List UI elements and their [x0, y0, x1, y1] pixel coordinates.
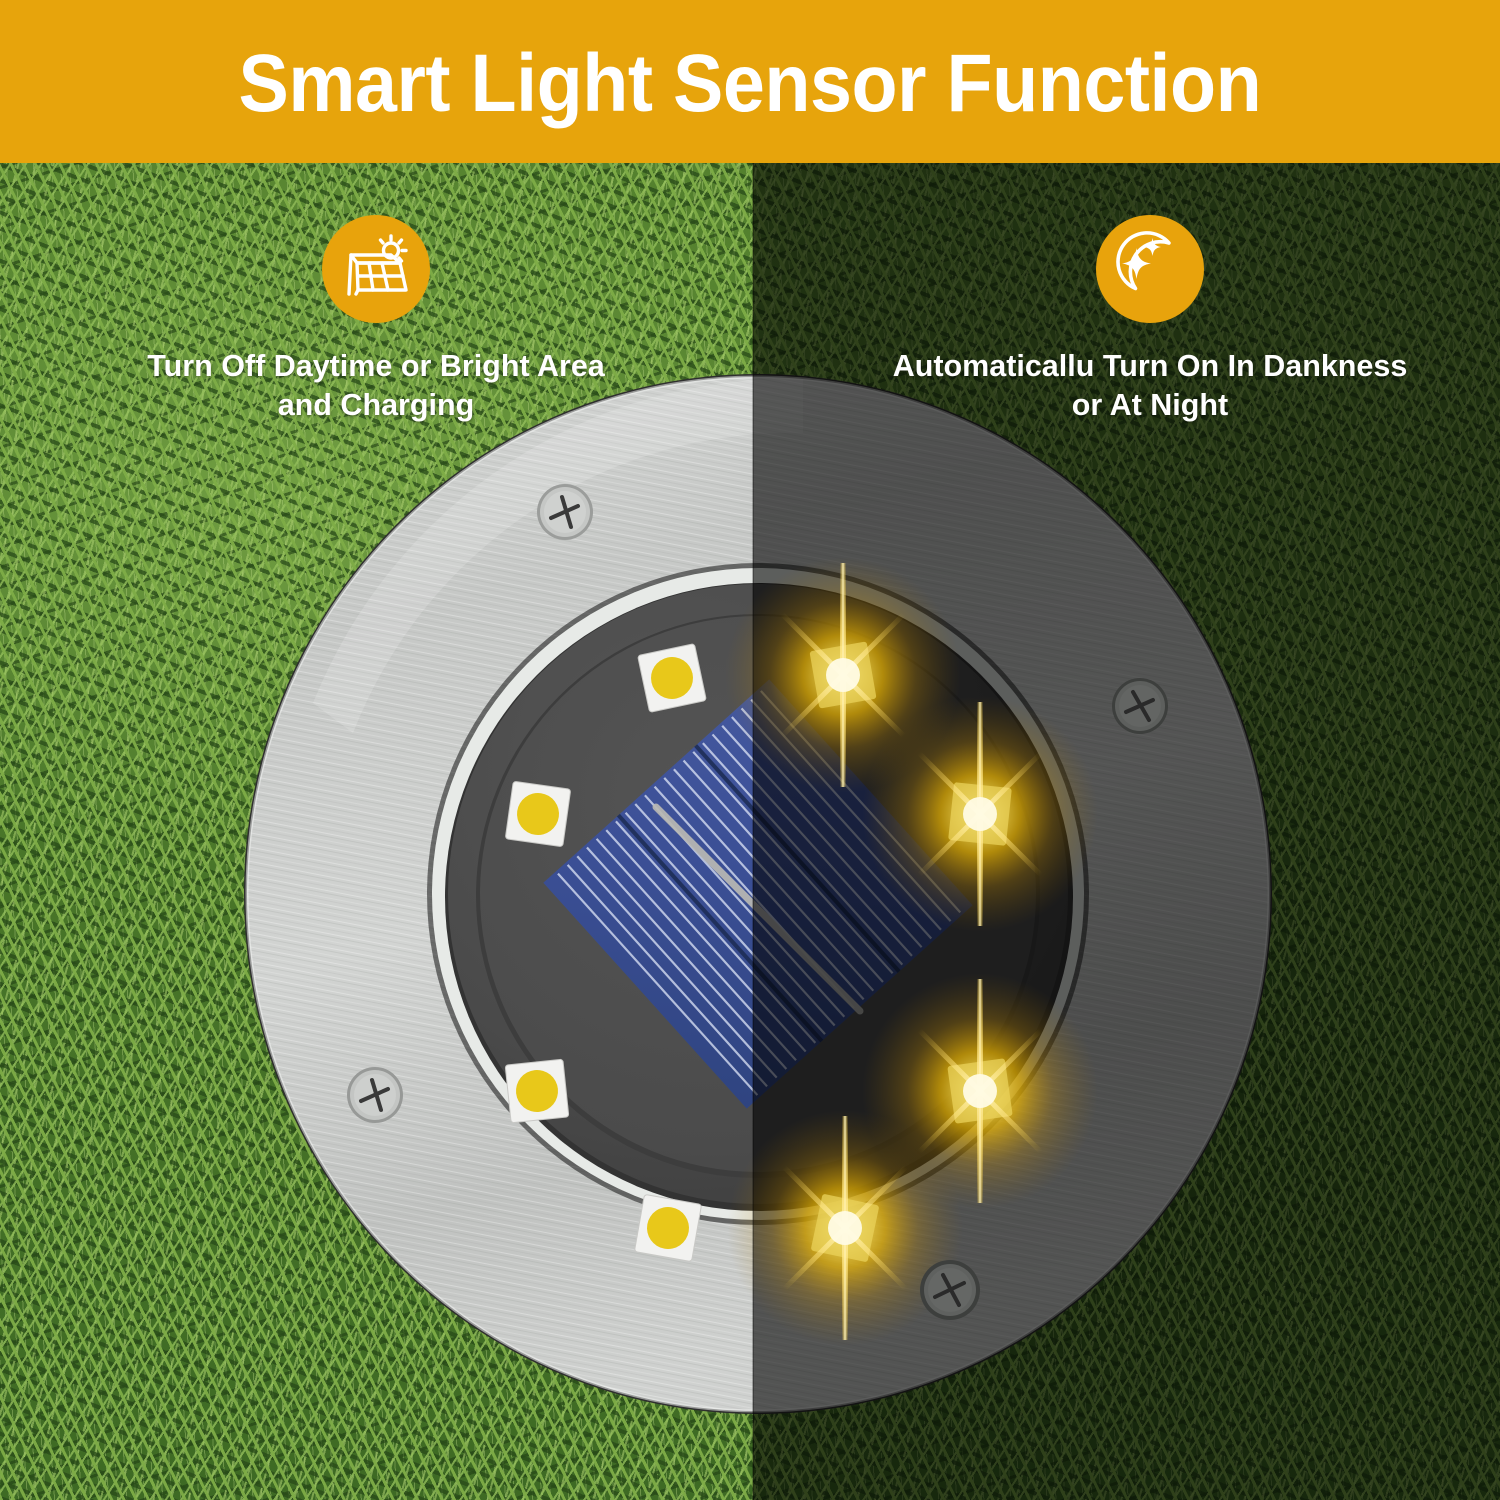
feature-daytime-line1: Turn Off Daytime or Bright Area: [96, 347, 656, 386]
infographic-canvas: Turn Off Daytime or Bright Area and Char…: [0, 0, 1500, 1500]
led-off-4: [634, 1194, 701, 1261]
feature-night-line1: Automaticallu Turn On In Dankness: [870, 347, 1430, 386]
crescent-moon-sparkle-icon: [1096, 215, 1204, 323]
solar-ground-light-product: [243, 373, 1273, 1415]
feature-night: Automaticallu Turn On In Dankness or At …: [870, 215, 1430, 425]
led-off-1: [638, 644, 707, 713]
led-off-2: [505, 781, 571, 847]
led-on-4: [727, 1110, 963, 1346]
solar-panel-sun-icon: [322, 215, 430, 323]
screw-bottom-left: [347, 1067, 403, 1123]
day-night-divider: [752, 163, 754, 1500]
screw-right: [1112, 678, 1168, 734]
feature-daytime: Turn Off Daytime or Bright Area and Char…: [96, 215, 656, 425]
led-on-2: [862, 696, 1098, 932]
feature-daytime-line2: and Charging: [96, 386, 656, 425]
led-off-3: [505, 1059, 569, 1123]
screw-top-left: [537, 484, 593, 540]
screw-bottom: [920, 1260, 980, 1320]
feature-night-line2: or At Night: [870, 386, 1430, 425]
page-title: Smart Light Sensor Function: [239, 43, 1262, 125]
header-banner: Smart Light Sensor Function: [0, 0, 1500, 163]
